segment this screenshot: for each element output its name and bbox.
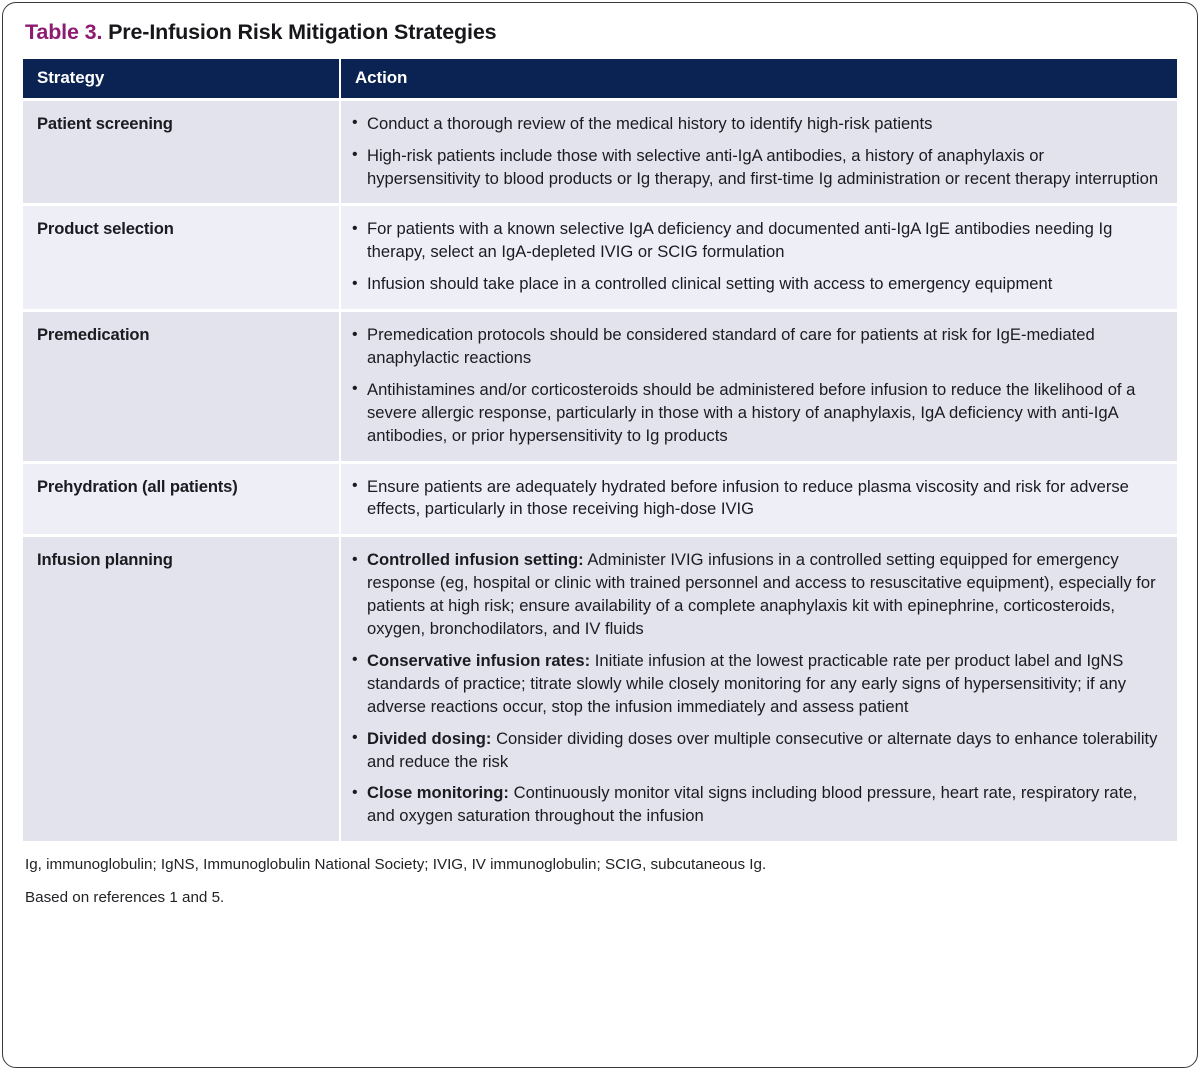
page-title: Table 3. Pre-Infusion Risk Mitigation St… [25,20,1177,46]
action-item: Ensure patients are adequately hydrated … [351,476,1159,522]
action-item-text: Conduct a thorough review of the medical… [367,114,932,133]
table-row: PremedicationPremedication protocols sho… [23,309,1177,460]
table-row: Product selectionFor patients with a kno… [23,203,1177,309]
table-row: Patient screeningConduct a thorough revi… [23,98,1177,204]
action-item-text: Ensure patients are adequately hydrated … [367,477,1129,519]
table-header-row: Strategy Action [23,59,1177,98]
action-item: Controlled infusion setting: Administer … [351,549,1159,641]
action-item-lead: Controlled infusion setting: [367,550,584,569]
action-item: Antihistamines and/or corticosteroids sh… [351,379,1159,448]
table-header: Strategy Action [23,59,1177,98]
risk-mitigation-table: Strategy Action Patient screeningConduct… [23,59,1177,841]
table-body: Patient screeningConduct a thorough revi… [23,98,1177,841]
column-header-action: Action [339,59,1177,98]
strategy-cell: Product selection [23,203,339,309]
action-item: Conduct a thorough review of the medical… [351,113,1159,136]
footnote-line: Ig, immunoglobulin; IgNS, Immunoglobulin… [25,853,1175,877]
action-item-text: Antihistamines and/or corticosteroids sh… [367,380,1135,445]
action-item: Divided dosing: Consider dividing doses … [351,728,1159,774]
action-item: High-risk patients include those with se… [351,145,1159,191]
action-item: Conservative infusion rates: Initiate in… [351,650,1159,719]
action-item-lead: Divided dosing: [367,729,491,748]
action-list: For patients with a known selective IgA … [351,218,1159,296]
strategy-cell: Prehydration (all patients) [23,461,339,535]
strategy-cell: Patient screening [23,98,339,204]
action-cell: For patients with a known selective IgA … [339,203,1177,309]
table-row: Infusion planningControlled infusion set… [23,534,1177,841]
action-item-lead: Close monitoring: [367,783,509,802]
table-row: Prehydration (all patients)Ensure patien… [23,461,1177,535]
action-item-text: High-risk patients include those with se… [367,146,1158,188]
action-item-lead: Conservative infusion rates: [367,651,590,670]
action-item: Premedication protocols should be consid… [351,324,1159,370]
action-list: Ensure patients are adequately hydrated … [351,476,1159,522]
action-item: Infusion should take place in a controll… [351,273,1159,296]
action-list: Premedication protocols should be consid… [351,324,1159,447]
action-item-text: Premedication protocols should be consid… [367,325,1095,367]
footnotes: Ig, immunoglobulin; IgNS, Immunoglobulin… [23,841,1177,909]
action-item: Close monitoring: Continuously monitor v… [351,782,1159,828]
action-list: Conduct a thorough review of the medical… [351,113,1159,191]
column-header-strategy: Strategy [23,59,339,98]
action-cell: Premedication protocols should be consid… [339,309,1177,460]
table-title-text: Pre-Infusion Risk Mitigation Strategies [108,20,496,44]
action-item-text: Infusion should take place in a controll… [367,274,1052,293]
action-item: For patients with a known selective IgA … [351,218,1159,264]
action-cell: Ensure patients are adequately hydrated … [339,461,1177,535]
action-cell: Controlled infusion setting: Administer … [339,534,1177,841]
table-number: Table 3. [25,20,102,44]
table-card: Table 3. Pre-Infusion Risk Mitigation St… [2,2,1198,1068]
footnote-line: Based on references 1 and 5. [25,886,1175,910]
action-item-text: For patients with a known selective IgA … [367,219,1112,261]
strategy-cell: Infusion planning [23,534,339,841]
action-cell: Conduct a thorough review of the medical… [339,98,1177,204]
action-list: Controlled infusion setting: Administer … [351,549,1159,828]
strategy-cell: Premedication [23,309,339,460]
